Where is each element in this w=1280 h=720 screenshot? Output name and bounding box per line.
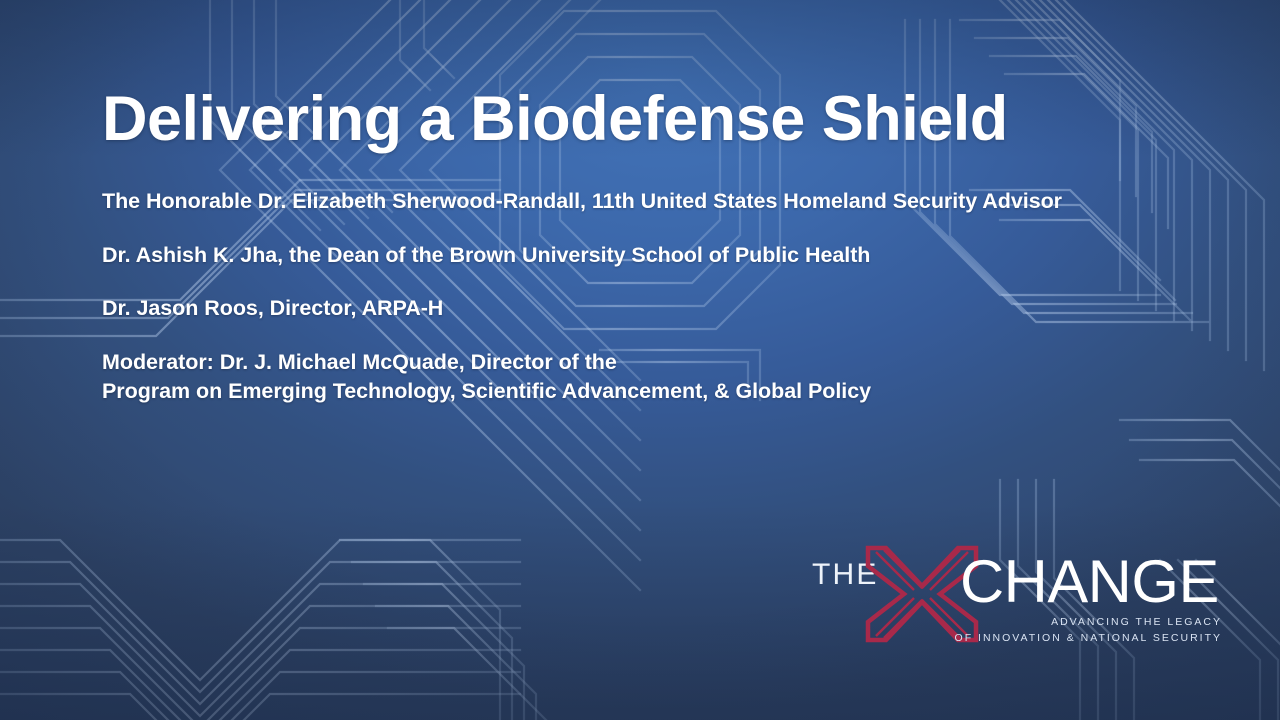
speaker-list: The Honorable Dr. Elizabeth Sherwood-Ran…: [102, 187, 1222, 405]
moderator-line: Moderator: Dr. J. Michael McQuade, Direc…: [102, 348, 1222, 405]
slide-title: Delivering a Biodefense Shield: [102, 78, 1112, 161]
slide-content: Delivering a Biodefense Shield The Honor…: [102, 78, 1222, 405]
logo-tagline-line-2: OF INNOVATION & NATIONAL SECURITY: [955, 630, 1222, 646]
speaker-line-3: Dr. Jason Roos, Director, ARPA-H: [102, 294, 1222, 323]
logo-tagline-line-1: ADVANCING THE LEGACY: [955, 614, 1222, 630]
thexchange-logo: THE CHANGE ADVANCING THE LEGACY OF INNOV…: [812, 552, 1224, 656]
presentation-slide: Delivering a Biodefense Shield The Honor…: [0, 0, 1280, 720]
speaker-line-2: Dr. Ashish K. Jha, the Dean of the Brown…: [102, 241, 1222, 270]
speaker-line-1: The Honorable Dr. Elizabeth Sherwood-Ran…: [102, 187, 1222, 216]
logo-tagline: ADVANCING THE LEGACY OF INNOVATION & NAT…: [955, 614, 1222, 647]
logo-change-text: CHANGE: [960, 552, 1219, 612]
